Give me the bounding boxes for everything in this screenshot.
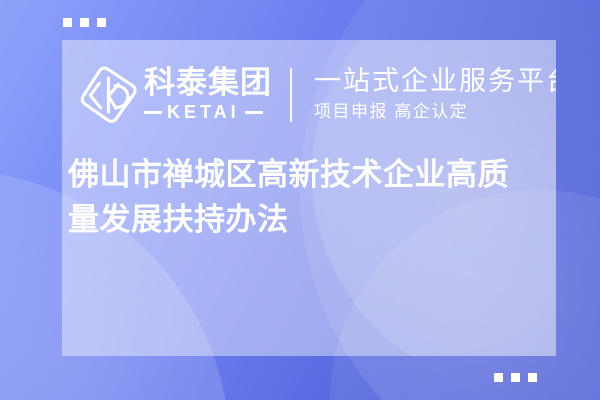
- poster-canvas: 科泰集团 KETAI 一站式企业服务平台 项目申报 高企认定 佛山市禅城区高新技…: [0, 0, 600, 400]
- brand-name-en: KETAI: [167, 102, 240, 123]
- decor-square: [511, 373, 520, 382]
- decor-square: [494, 373, 503, 382]
- ketai-diamond-kd-monogram-icon: [78, 64, 140, 126]
- brand-name-cn: 科泰集团: [144, 67, 272, 100]
- content-card: 科泰集团 KETAI 一站式企业服务平台 项目申报 高企认定 佛山市禅城区高新技…: [62, 40, 556, 356]
- wordmark-rule-left: [144, 111, 162, 114]
- three-squares-icon-bottom-right: [494, 373, 537, 382]
- vertical-divider-icon: [290, 68, 292, 122]
- tagline-main: 一站式企业服务平台: [314, 66, 556, 98]
- three-squares-icon-top-left: [63, 18, 106, 27]
- tagline-sub: 项目申报 高企认定: [314, 101, 556, 124]
- page-title: 佛山市禅城区高新技术企业高质量发展扶持办法: [68, 152, 538, 243]
- brand-wordmark: 科泰集团 KETAI: [144, 67, 272, 124]
- wordmark-rule-right: [245, 111, 263, 114]
- decor-square: [97, 18, 106, 27]
- brand-row: 科泰集团 KETAI 一站式企业服务平台 项目申报 高企认定: [72, 45, 556, 145]
- tagline-block: 一站式企业服务平台 项目申报 高企认定: [314, 66, 556, 125]
- decor-square: [528, 373, 537, 382]
- decor-square: [80, 18, 89, 27]
- decor-square: [63, 18, 72, 27]
- brand-name-en-row: KETAI: [144, 102, 272, 123]
